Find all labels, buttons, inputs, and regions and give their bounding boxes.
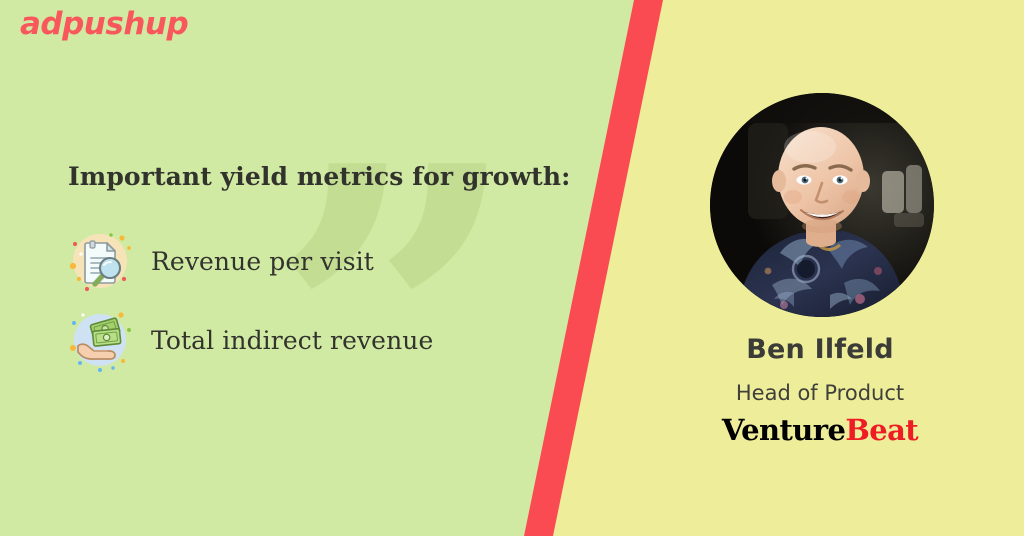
- speaker-name: Ben Ilfeld: [560, 334, 1024, 365]
- metric-label: Total indirect revenue: [151, 326, 433, 355]
- venturebeat-logo-part-one: Venture: [722, 413, 845, 447]
- venturebeat-logo-part-two: Beat: [845, 413, 918, 447]
- hand-holding-money-icon: [66, 306, 134, 374]
- metric-label: Revenue per visit: [151, 247, 374, 276]
- speaker-role: Head of Product: [560, 381, 1024, 405]
- list-item: Revenue per visit: [66, 227, 374, 295]
- quote-card: ” adpushup Important yield metrics for g…: [0, 0, 1024, 536]
- venturebeat-logo: VentureBeat: [560, 413, 1024, 447]
- document-magnifier-icon: [66, 227, 134, 295]
- list-item: Total indirect revenue: [66, 306, 433, 374]
- page-title: Important yield metrics for growth:: [68, 162, 570, 191]
- avatar: [710, 93, 934, 317]
- adpushup-logo: adpushup: [20, 6, 188, 42]
